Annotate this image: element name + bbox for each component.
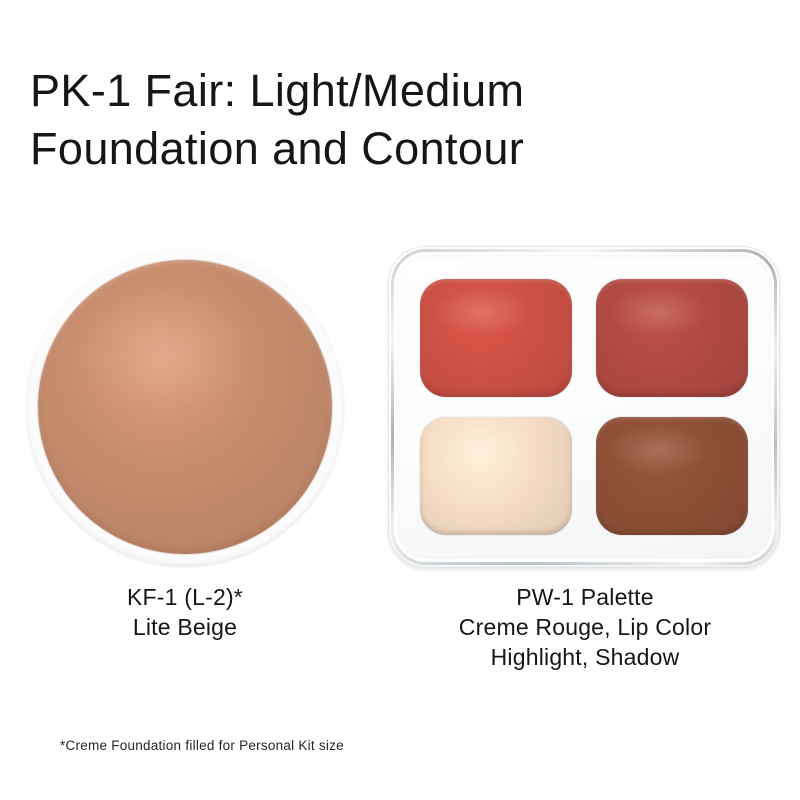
- palette-pan-shadow: [596, 417, 748, 535]
- page-title: PK-1 Fair: Light/Medium Foundation and C…: [30, 62, 770, 178]
- page-title-line-1: PK-1 Fair: Light/Medium: [30, 62, 770, 120]
- palette-pan-lip-color: [596, 279, 748, 397]
- foundation-caption: KF-1 (L-2)* Lite Beige: [35, 582, 335, 642]
- foundation-caption-code: KF-1 (L-2)*: [35, 582, 335, 612]
- palette-caption-row-2: Highlight, Shadow: [390, 642, 780, 672]
- palette-product-image: [388, 246, 780, 568]
- palette-pan-grid: [420, 279, 748, 535]
- product-showcase: [0, 240, 800, 580]
- foundation-product-image: [26, 248, 344, 566]
- palette-pan-highlight: [420, 417, 572, 535]
- footnote: *Creme Foundation filled for Personal Ki…: [60, 738, 344, 753]
- foundation-caption-shade: Lite Beige: [35, 612, 335, 642]
- palette-caption: PW-1 Palette Creme Rouge, Lip Color High…: [390, 582, 780, 672]
- page-title-line-2: Foundation and Contour: [30, 120, 770, 178]
- palette-pan-creme-rouge: [420, 279, 572, 397]
- foundation-pan-lite-beige: [38, 260, 332, 554]
- palette-caption-row-1: Creme Rouge, Lip Color: [390, 612, 780, 642]
- palette-caption-name: PW-1 Palette: [390, 582, 780, 612]
